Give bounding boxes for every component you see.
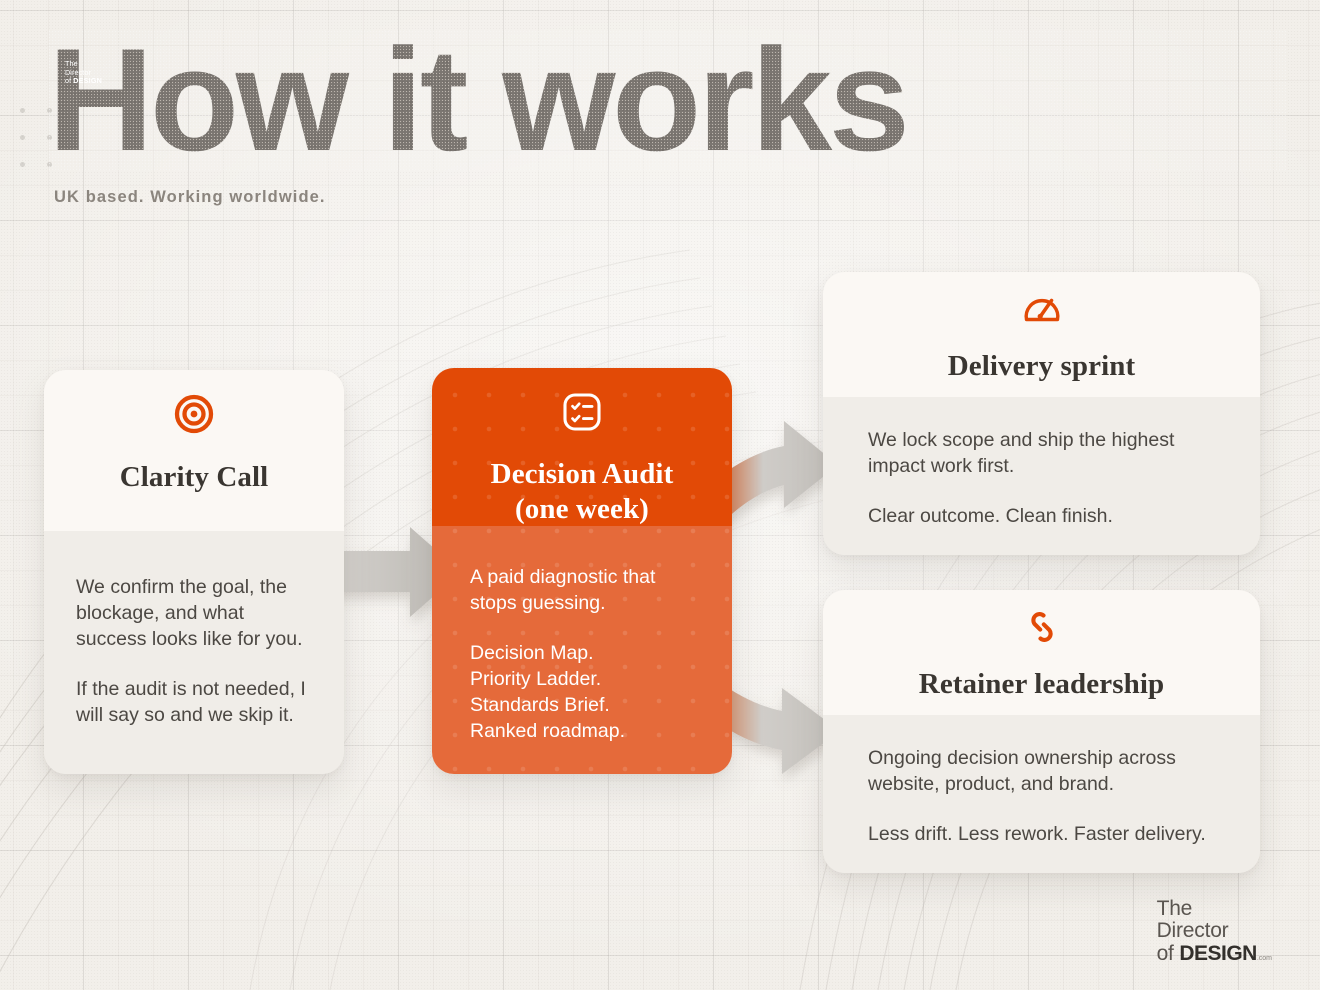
card-decision-audit-paragraph-1: A paid diagnostic that stops guessing.: [470, 564, 706, 616]
card-decision-audit[interactable]: Decision Audit (one week) A paid diagnos…: [432, 368, 732, 774]
logo-badge-line3: of DESIGN: [65, 77, 119, 86]
page-title: How it works: [48, 30, 1288, 170]
card-delivery-sprint-body: We lock scope and ship the highest impac…: [823, 397, 1260, 555]
card-clarity-call-title: Clarity Call: [44, 460, 344, 495]
page-title-text: How it works: [48, 18, 906, 181]
card-decision-audit-paragraph-2: Decision Map. Priority Ladder. Standards…: [470, 640, 706, 744]
logo-badge-in-title: The Director of DESIGN: [57, 52, 119, 108]
card-clarity-call-paragraph-2: If the audit is not needed, I will say s…: [76, 676, 314, 728]
card-decision-audit-body: A paid diagnostic that stops guessing. D…: [432, 526, 732, 774]
card-decision-audit-title-line1: Decision Audit: [491, 458, 674, 490]
card-delivery-sprint-paragraph-1: We lock scope and ship the highest impac…: [868, 427, 1232, 479]
card-retainer-leadership-title: Retainer leadership: [823, 667, 1260, 702]
card-retainer-leadership[interactable]: Retainer leadership Ongoing decision own…: [823, 590, 1260, 873]
card-clarity-call[interactable]: Clarity Call We confirm the goal, the bl…: [44, 370, 344, 774]
card-clarity-call-header: Clarity Call: [44, 370, 344, 531]
card-retainer-leadership-header: Retainer leadership: [823, 590, 1260, 715]
card-decision-audit-title-line2: (one week): [515, 493, 649, 525]
card-decision-audit-header: Decision Audit (one week): [432, 368, 732, 526]
card-clarity-call-paragraph-1: We confirm the goal, the blockage, and w…: [76, 574, 314, 652]
card-delivery-sprint[interactable]: Delivery sprint We lock scope and ship t…: [823, 272, 1260, 555]
page-subtitle: UK based. Working worldwide.: [54, 188, 1288, 207]
card-retainer-leadership-paragraph-2: Less drift. Less rework. Faster delivery…: [868, 821, 1236, 847]
header: How it works The Director of DESIGN UK b…: [48, 30, 1288, 207]
gauge-speedometer-icon: [823, 288, 1260, 330]
card-delivery-sprint-paragraph-2: Clear outcome. Clean finish.: [868, 503, 1232, 529]
footer-logo-tld: .com: [1257, 955, 1272, 962]
card-retainer-leadership-body: Ongoing decision ownership across websit…: [823, 715, 1260, 873]
footer-logo-line1: The: [1157, 898, 1272, 921]
footer-logo: The Director of DESIGN.com: [1157, 898, 1272, 971]
card-delivery-sprint-header: Delivery sprint: [823, 272, 1260, 397]
card-clarity-call-body: We confirm the goal, the blockage, and w…: [44, 531, 344, 774]
target-bullseye-icon: [44, 392, 344, 436]
card-retainer-leadership-paragraph-1: Ongoing decision ownership across websit…: [868, 745, 1236, 797]
card-decision-audit-title: Decision Audit (one week): [432, 457, 732, 528]
chain-link-icon: [823, 606, 1260, 648]
footer-logo-line2: Director: [1157, 920, 1272, 943]
checklist-square-icon: [432, 391, 732, 433]
footer-logo-line3: of DESIGN.com: [1157, 943, 1272, 971]
card-delivery-sprint-title: Delivery sprint: [823, 349, 1260, 384]
